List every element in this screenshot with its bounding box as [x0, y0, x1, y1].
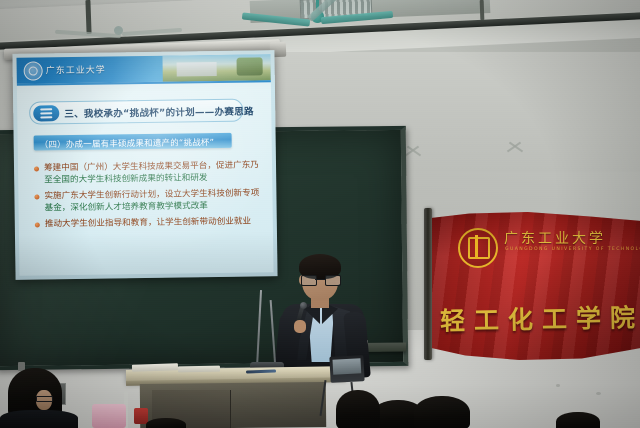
attendee-shoulders: [0, 410, 78, 428]
seated-attendee: [336, 390, 380, 428]
eyeglasses-icon: [36, 396, 53, 402]
banner-hanging-rod: [424, 208, 432, 360]
eyeglass-lens: [325, 275, 341, 286]
screen-edge-shading: [12, 50, 277, 280]
papers-on-lectern: [178, 366, 220, 373]
seated-attendee: [146, 418, 186, 428]
projection-screen: 广东工业大学 三、我校承办“挑战杯”的计划——办赛思路 （四）办成一届有丰硕成果…: [12, 50, 277, 280]
presenter-hand: [294, 320, 306, 333]
ceiling-support-post-right: [480, 0, 485, 20]
wall-blemish: [596, 392, 601, 395]
seated-attendee: [414, 396, 470, 428]
microphone-head-icon: [300, 302, 307, 309]
eyeglass-lens: [301, 275, 317, 286]
lecture-hall-photo: 广东工业大学 三、我校承办“挑战杯”的计划——办赛思路 （四）办成一届有丰硕成果…: [0, 0, 640, 428]
red-cup: [134, 408, 148, 424]
seated-attendee: [556, 412, 600, 428]
pink-bag: [92, 404, 126, 428]
laptop-screen: [332, 358, 361, 374]
lectern-panel-right: [232, 390, 318, 428]
department-banner: 广东工业大学 GUANGDONG UNIVERSITY OF TECHNOLOG…: [432, 212, 640, 360]
eyeglasses-icon: [301, 275, 339, 284]
fan-hub: [114, 26, 123, 35]
laptop-on-desk: [329, 355, 364, 383]
banner-shading: [432, 212, 640, 360]
wall-blemish: [556, 384, 560, 387]
eyeglass-bridge: [315, 279, 325, 280]
